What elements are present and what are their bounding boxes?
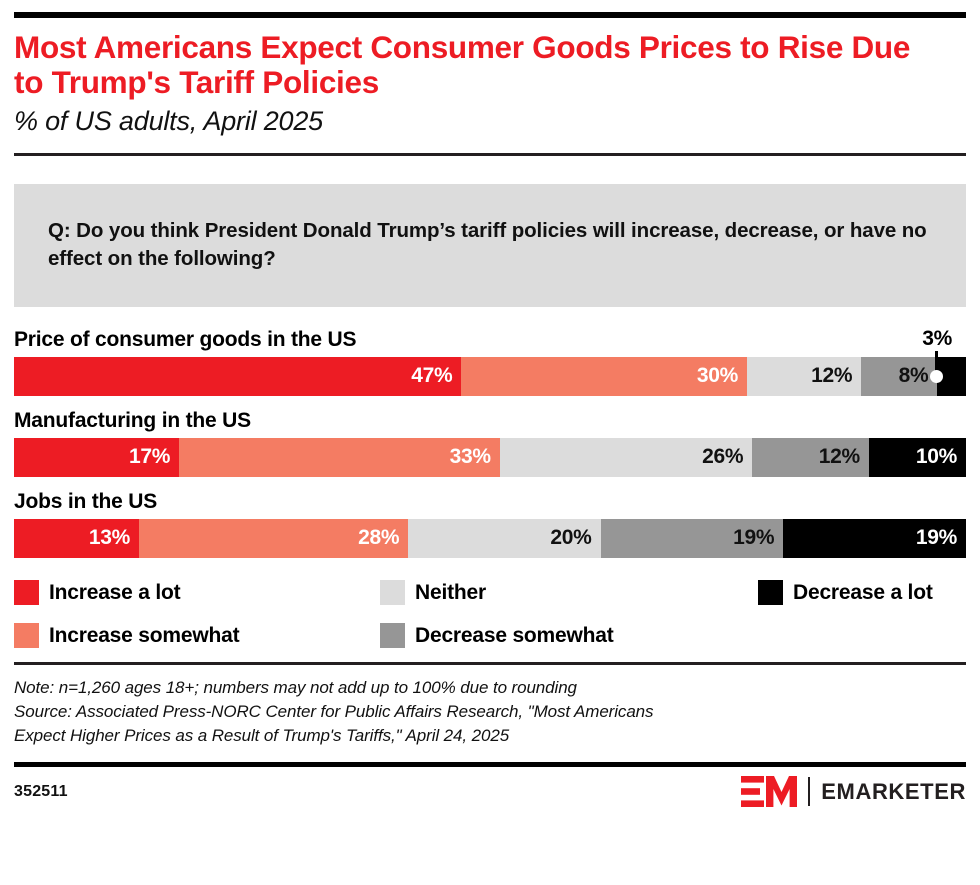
- legend-item: Neither: [380, 580, 486, 605]
- footer-divider: [14, 662, 966, 665]
- legend-swatch-icon: [380, 580, 405, 605]
- legend-item: Increase a lot: [14, 580, 180, 605]
- bar-segment-decrease-somewhat: 19%: [601, 519, 784, 558]
- legend-swatch-icon: [14, 580, 39, 605]
- legend-label: Decrease a lot: [793, 582, 933, 603]
- header-divider: [14, 153, 966, 156]
- bar-segment-decrease-somewhat: 8%: [861, 357, 937, 396]
- bar-segment-increase-a-lot: 13%: [14, 519, 139, 558]
- legend-item: Increase somewhat: [14, 623, 239, 648]
- bar-segment-increase-a-lot: 17%: [14, 438, 179, 477]
- legend-swatch-icon: [758, 580, 783, 605]
- bar-segment-increase-somewhat: 28%: [139, 519, 408, 558]
- footer-row: 352511 EMARKETER: [14, 776, 966, 807]
- top-rule: [14, 12, 966, 18]
- legend-item: Decrease a lot: [758, 580, 933, 605]
- bar-group: Jobs in the US13%28%20%19%19%: [14, 491, 966, 558]
- bar-segment-neither: 12%: [747, 357, 861, 396]
- bar-segment-neither: 26%: [500, 438, 753, 477]
- legend-label: Increase a lot: [49, 582, 180, 603]
- emarketer-logo: EMARKETER: [741, 776, 966, 807]
- bar-segment-decrease-a-lot: 19%: [783, 519, 966, 558]
- bar-group: Manufacturing in the US17%33%26%12%10%: [14, 410, 966, 477]
- brand-name: EMARKETER: [821, 779, 966, 805]
- chart-legend: Increase a lotIncrease somewhatNeitherDe…: [14, 580, 966, 658]
- legend-label: Neither: [415, 582, 486, 603]
- bar-segment-decrease-somewhat: 12%: [752, 438, 869, 477]
- legend-item: Decrease somewhat: [380, 623, 614, 648]
- bar-segment-decrease-a-lot: 10%: [869, 438, 966, 477]
- note-line: Note: n=1,260 ages 18+; numbers may not …: [14, 676, 966, 700]
- bar-category-label: Price of consumer goods in the US: [14, 329, 966, 357]
- stacked-bar-chart: Price of consumer goods in the US47%30%1…: [14, 329, 966, 558]
- bar-category-label: Jobs in the US: [14, 491, 966, 519]
- chart-id: 352511: [14, 783, 68, 801]
- bar-segment-decrease-a-lot: [937, 357, 966, 396]
- legend-swatch-icon: [14, 623, 39, 648]
- bar-segment-increase-somewhat: 30%: [461, 357, 747, 396]
- legend-label: Increase somewhat: [49, 625, 239, 646]
- logo-divider: [808, 777, 810, 806]
- legend-label: Decrease somewhat: [415, 625, 614, 646]
- source-line-1: Source: Associated Press-NORC Center for…: [14, 700, 966, 724]
- stacked-bar: 47%30%12%8%: [14, 357, 966, 396]
- bar-group: Price of consumer goods in the US47%30%1…: [14, 329, 966, 396]
- bar-segment-increase-a-lot: 47%: [14, 357, 461, 396]
- bar-category-label: Manufacturing in the US: [14, 410, 966, 438]
- bar-segment-neither: 20%: [408, 519, 600, 558]
- stacked-bar: 13%28%20%19%19%: [14, 519, 966, 558]
- stacked-bar: 17%33%26%12%10%: [14, 438, 966, 477]
- chart-page: Most Americans Expect Consumer Goods Pri…: [0, 12, 980, 885]
- bar-segment-increase-somewhat: 33%: [179, 438, 500, 477]
- legend-swatch-icon: [380, 623, 405, 648]
- em-mark-icon: [741, 776, 797, 807]
- bottom-rule: [14, 762, 966, 767]
- source-line-2: Expect Higher Prices as a Result of Trum…: [14, 724, 966, 748]
- question-text: Q: Do you think President Donald Trump’s…: [48, 217, 928, 274]
- page-title: Most Americans Expect Consumer Goods Pri…: [14, 30, 944, 100]
- page-subtitle: % of US adults, April 2025: [14, 106, 966, 136]
- question-callout: Q: Do you think President Donald Trump’s…: [14, 184, 966, 307]
- footer-notes: Note: n=1,260 ages 18+; numbers may not …: [14, 676, 966, 748]
